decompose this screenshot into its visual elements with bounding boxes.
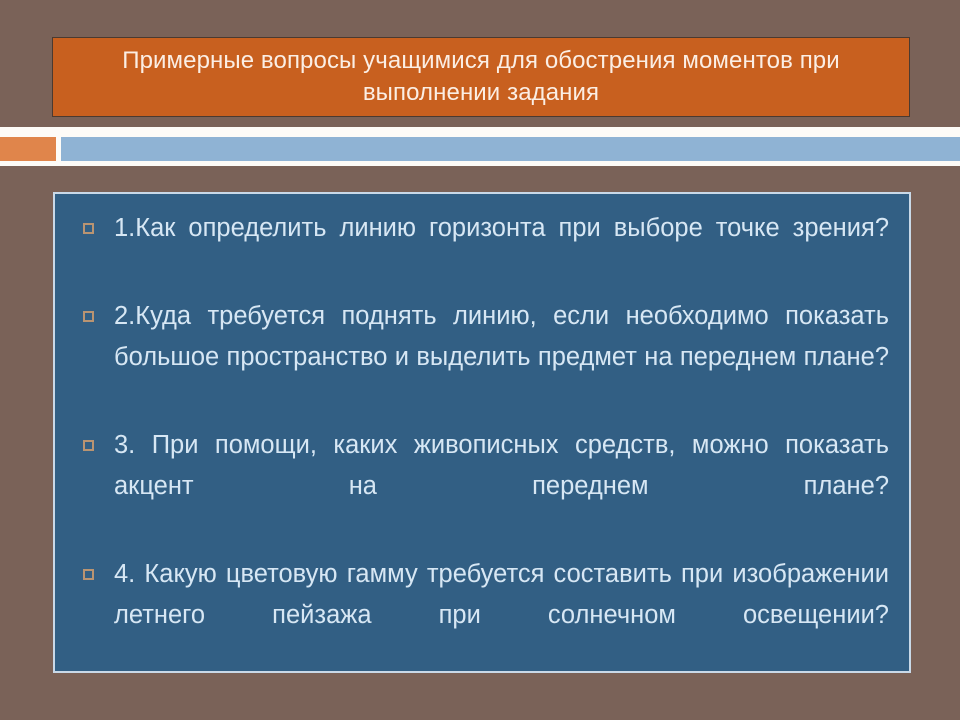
square-bullet-icon <box>83 311 94 322</box>
list-item: 1.Как определить линию горизонта при выб… <box>69 208 889 290</box>
list-item: 4. Какую цветовую гамму требуется состав… <box>69 554 889 677</box>
list-item-text: 1.Как определить линию горизонта при выб… <box>114 214 889 283</box>
list-item: 3. При помощи, каких живописных средств,… <box>69 425 889 548</box>
list-item-text: 2.Куда требуется поднять линию, если нео… <box>114 302 889 412</box>
square-bullet-icon <box>83 569 94 580</box>
list-item-text: 3. При помощи, каких живописных средств,… <box>114 431 889 541</box>
list-item-text: 4. Какую цветовую гамму требуется состав… <box>114 560 889 670</box>
square-bullet-icon <box>83 223 94 234</box>
presentation-slide: Примерные вопросы учащимися для обострен… <box>0 0 960 720</box>
list-item: 2.Куда требуется поднять линию, если нео… <box>69 296 889 419</box>
slide-content-box: 1.Как определить линию горизонта при выб… <box>53 192 911 673</box>
square-bullet-icon <box>83 440 94 451</box>
divider-accent-block <box>0 137 56 161</box>
divider-bar <box>61 137 960 161</box>
slide-title-banner: Примерные вопросы учащимися для обострен… <box>52 37 910 117</box>
question-list: 1.Как определить линию горизонта при выб… <box>69 208 889 677</box>
slide-title-text: Примерные вопросы учащимися для обострен… <box>53 45 909 109</box>
